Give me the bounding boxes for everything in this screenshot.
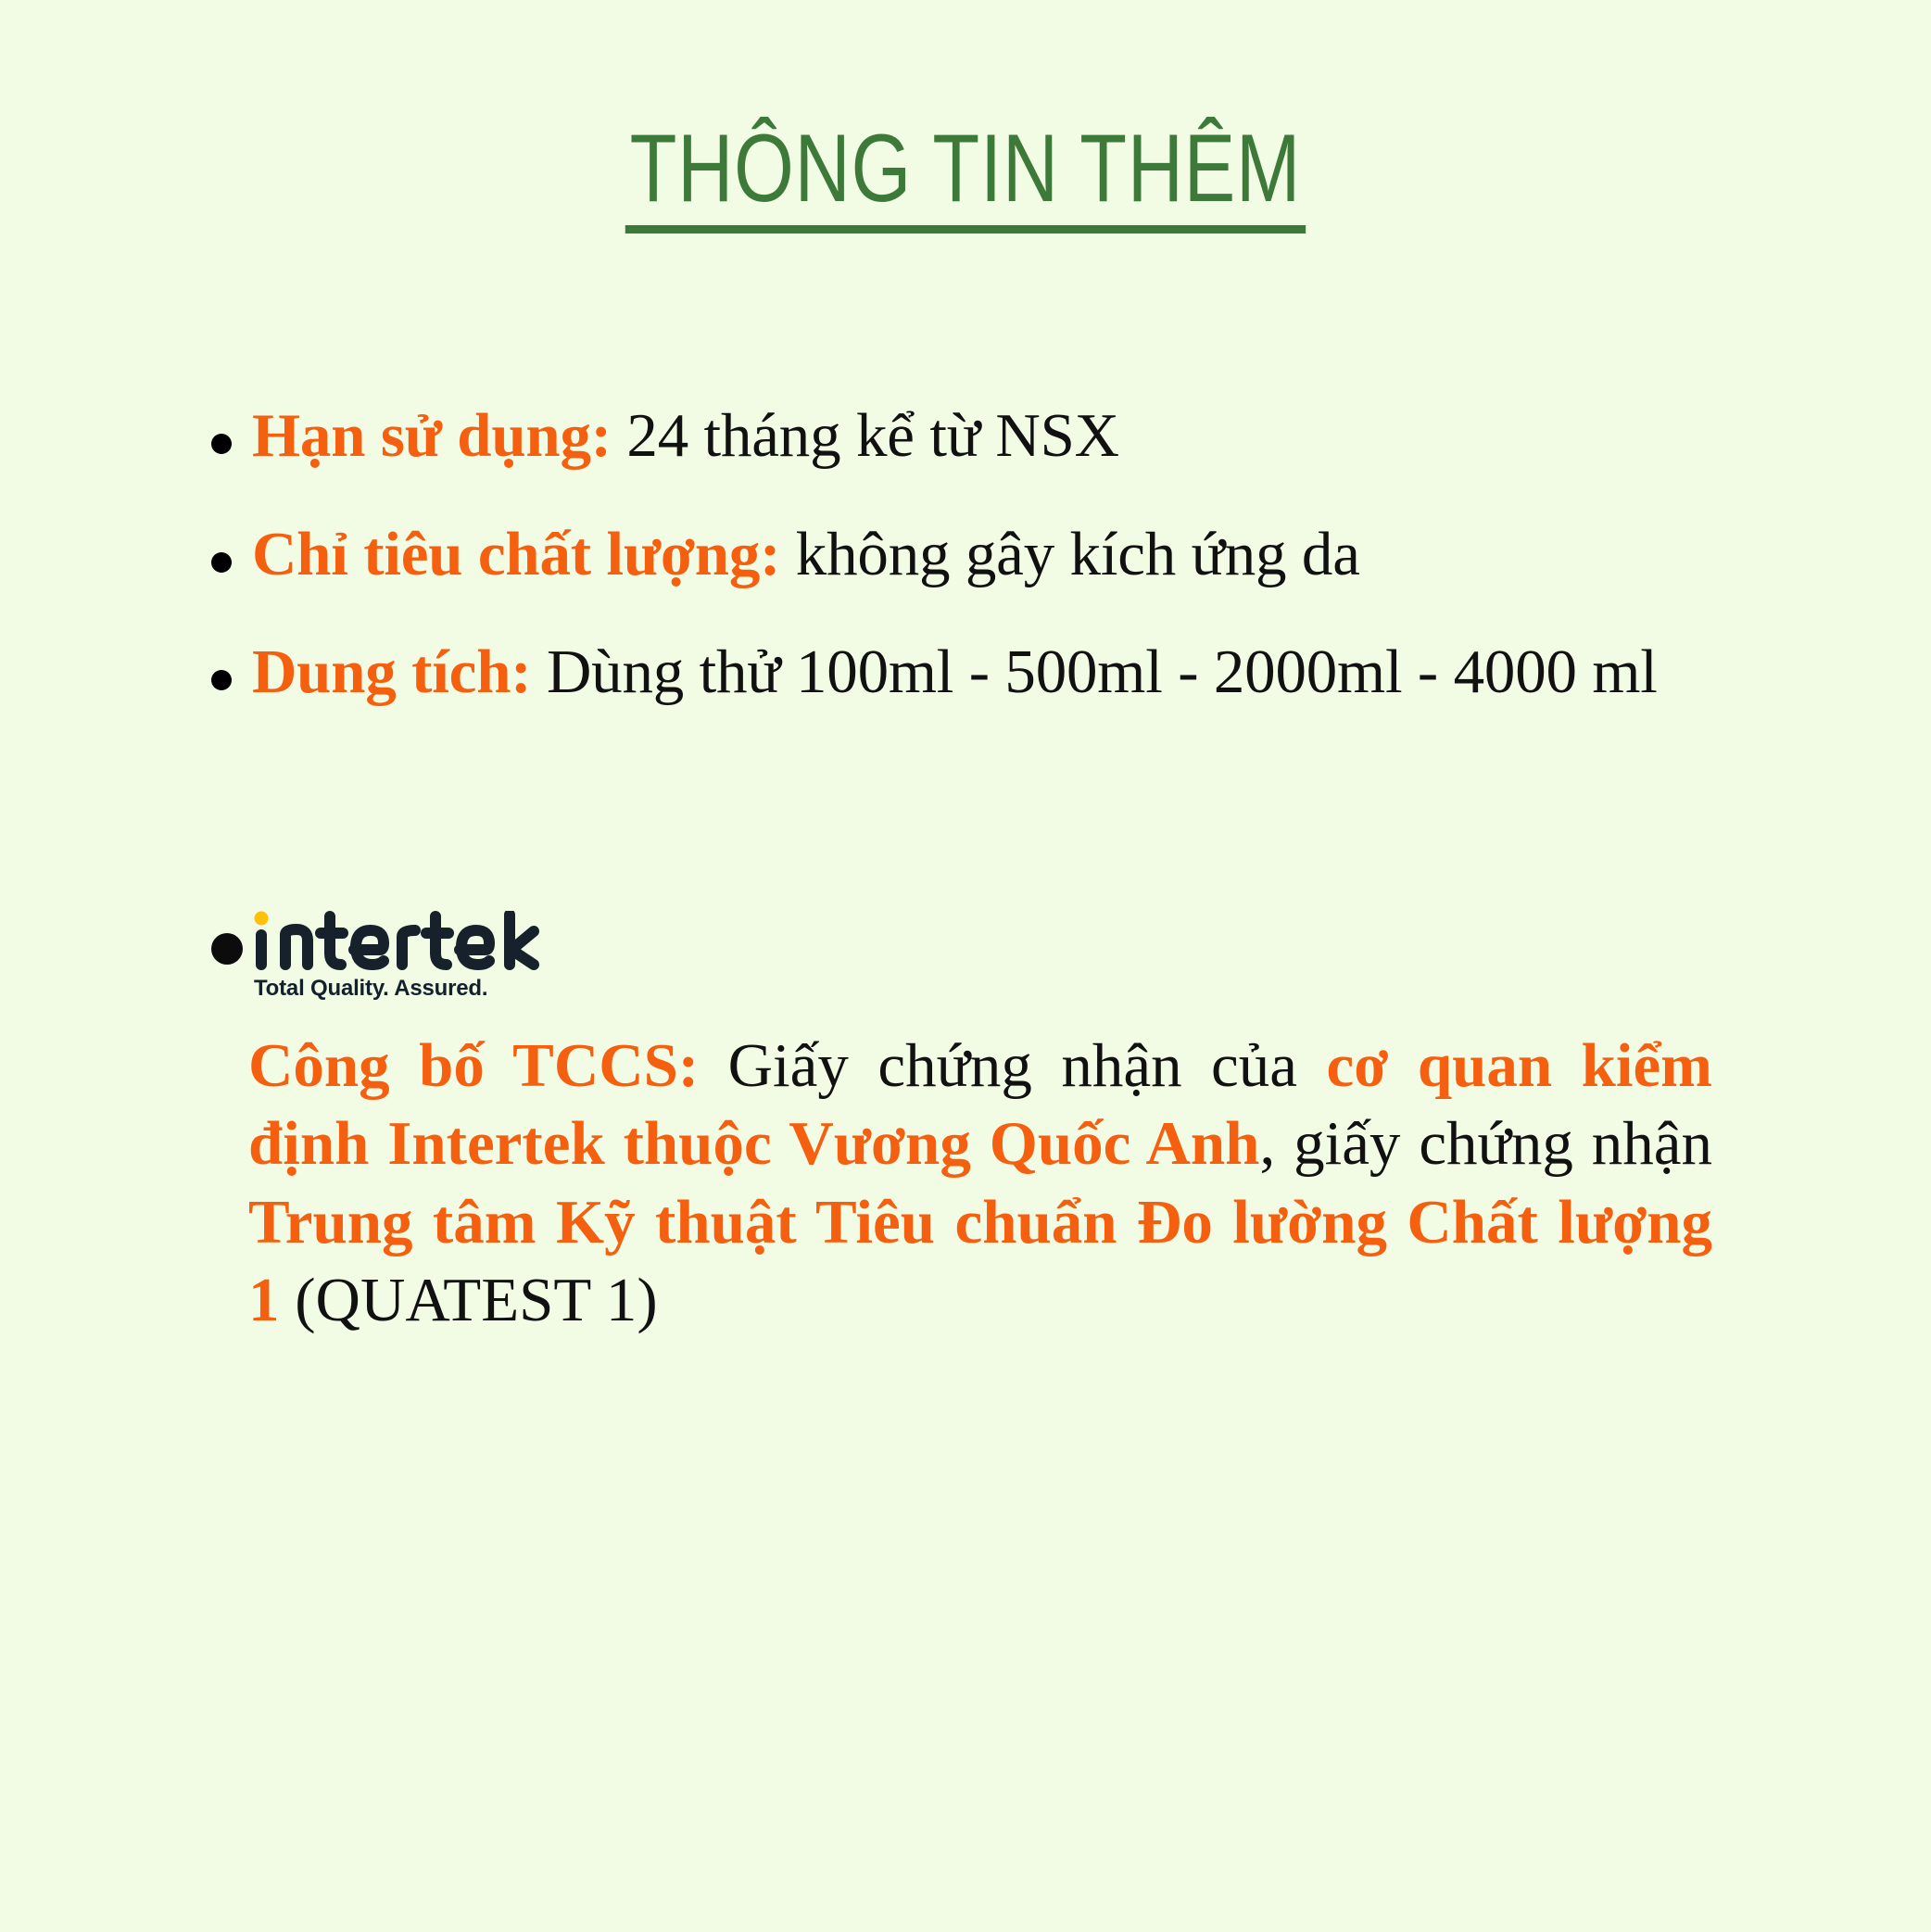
list-item-text: Dung tích: Dùng thử 100ml - 500ml - 2000… xyxy=(252,635,1786,711)
intertek-wordmark-icon xyxy=(254,911,541,972)
list-item-value: 24 tháng kể từ NSX xyxy=(612,401,1119,470)
list-item-label: Hạn sử dụng: xyxy=(252,401,612,470)
logo-tagline: Total Quality. Assured. xyxy=(254,976,600,1002)
bullet-dot-icon xyxy=(211,434,232,454)
tccs-label: Công bố TCCS: xyxy=(248,1031,699,1100)
bullet-dot-icon xyxy=(211,552,232,573)
logo-wordmark-row xyxy=(211,913,600,970)
list-item-value: Dùng thử 100ml - 500ml - 2000ml - 4000 m… xyxy=(531,638,1657,706)
tccs-paragraph: Công bố TCCS: Giấy chứng nhận của cơ qua… xyxy=(248,1027,1712,1340)
list-item-label: Dung tích: xyxy=(252,638,531,706)
tccs-part-2: , giấy chứng nhận xyxy=(1259,1109,1712,1178)
list-item: Dung tích: Dùng thử 100ml - 500ml - 2000… xyxy=(211,635,1786,711)
page-title-container: THÔNG TIN THÊM xyxy=(0,119,1931,234)
list-item-label: Chỉ tiêu chất lượng: xyxy=(252,520,780,588)
list-item-text: Hạn sử dụng: 24 tháng kể từ NSX xyxy=(252,398,1786,474)
page-title: THÔNG TIN THÊM xyxy=(625,119,1306,234)
info-list: Hạn sử dụng: 24 tháng kể từ NSX Chỉ tiêu… xyxy=(211,398,1786,753)
list-item-value: không gây kích ứng da xyxy=(780,520,1360,588)
list-item: Hạn sử dụng: 24 tháng kể từ NSX xyxy=(211,398,1786,474)
intertek-i-dot-icon xyxy=(255,912,269,926)
bullet-dot-icon xyxy=(211,670,232,690)
tccs-part-1: Giấy chứng nhận của xyxy=(699,1031,1326,1100)
bullet-dot-icon xyxy=(211,933,243,965)
tccs-part-3: (QUATEST 1) xyxy=(280,1266,658,1334)
intertek-logo: Total Quality. Assured. xyxy=(211,913,600,1002)
list-item: Chỉ tiêu chất lượng: không gây kích ứng … xyxy=(211,517,1786,593)
list-item-text: Chỉ tiêu chất lượng: không gây kích ứng … xyxy=(252,517,1786,593)
poster-page: THÔNG TIN THÊM Hạn sử dụng: 24 tháng kể … xyxy=(0,0,1931,1932)
